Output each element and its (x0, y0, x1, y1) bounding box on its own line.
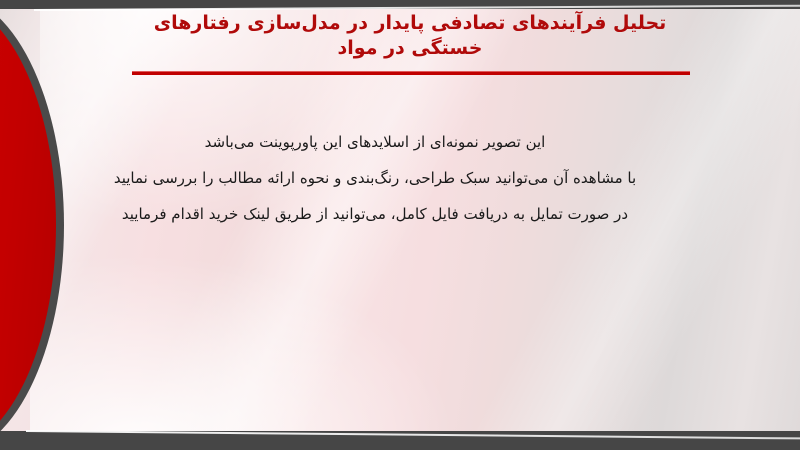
body-line-1: این تصویر نمونه‌ای از اسلایدهای این پاور… (110, 124, 640, 160)
background-highlight-bottom-left (30, 258, 450, 433)
left-red-lens-decoration (0, 0, 64, 450)
slide-title: تحلیل فرآیندهای تصادفی پایدار در مدل‌ساز… (120, 11, 700, 61)
title-underline-rule (132, 71, 690, 75)
slide-title-line-1: تحلیل فرآیندهای تصادفی پایدار در مدل‌ساز… (120, 11, 700, 36)
body-line-3: در صورت تمایل به دریافت فایل کامل، می‌تو… (110, 196, 640, 232)
presentation-slide: تحلیل فرآیندهای تصادفی پایدار در مدل‌ساز… (0, 0, 800, 450)
slide-title-line-2: خستگی در مواد (120, 36, 700, 61)
body-line-2: با مشاهده آن می‌توانید سبک طراحی، رنگ‌بن… (110, 160, 640, 196)
slide-body-text: این تصویر نمونه‌ای از اسلایدهای این پاور… (110, 124, 640, 232)
